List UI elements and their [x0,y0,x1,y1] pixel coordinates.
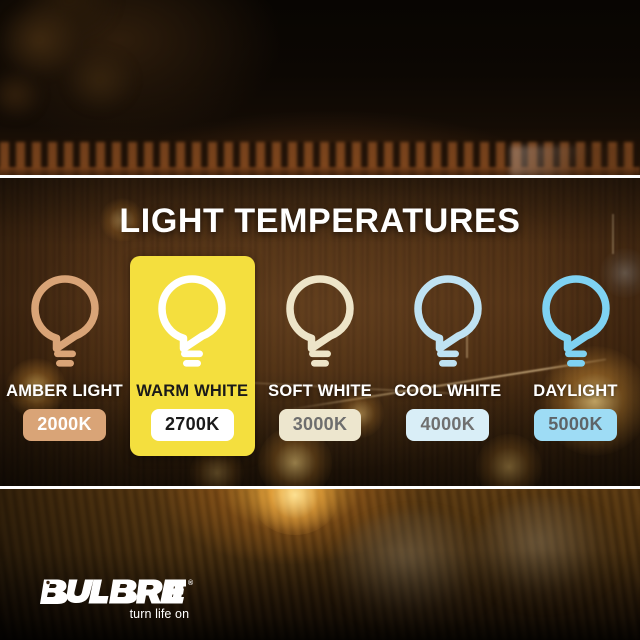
card-label-amber-light: AMBER LIGHT [6,382,123,401]
registered-trademark-icon: ® [188,580,193,587]
temperature-card-daylight[interactable]: DAYLIGHT 5000K [513,256,638,456]
fence-post-right [510,146,630,176]
kelvin-badge-amber-light: 2000K [23,409,106,441]
card-label-warm-white: WARM WHITE [136,382,248,401]
card-label-soft-white: SOFT WHITE [268,382,372,401]
brand-logo: ® turn life on [40,578,193,621]
temperature-card-warm-white[interactable]: WARM WHITE 2700K [130,256,255,456]
bulb-icon-amber-light [26,272,104,372]
top-photo-band [0,0,640,176]
temperature-card-soft-white[interactable]: SOFT WHITE 3000K [258,256,383,456]
kelvin-badge-warm-white: 2700K [151,409,234,441]
content-panel: LIGHT TEMPERATURES AMBER LIGHT [0,178,640,487]
logo-wordmark-row: ® [40,578,193,604]
temperature-card-list: AMBER LIGHT 2000K WARM WH [0,256,640,471]
brand-tagline: turn life on [40,607,193,621]
bulb-icon-warm-white [153,272,231,372]
kelvin-badge-soft-white: 3000K [279,409,362,441]
bulb-icon-daylight [537,272,615,372]
temperature-card-cool-white[interactable]: COOL WHITE 4000K [385,256,510,456]
bulbrite-wordmark-icon [40,578,186,604]
bulb-icon-cool-white [409,272,487,372]
kelvin-badge-cool-white: 4000K [406,409,489,441]
light-temperatures-poster: LIGHT TEMPERATURES AMBER LIGHT [0,0,640,640]
temperature-card-amber-light[interactable]: AMBER LIGHT 2000K [2,256,127,456]
kelvin-badge-daylight: 5000K [534,409,617,441]
page-title: LIGHT TEMPERATURES [0,202,640,241]
bulb-icon-soft-white [281,272,359,372]
card-label-cool-white: COOL WHITE [394,382,501,401]
tree-silhouette [0,0,200,150]
card-label-daylight: DAYLIGHT [533,382,617,401]
